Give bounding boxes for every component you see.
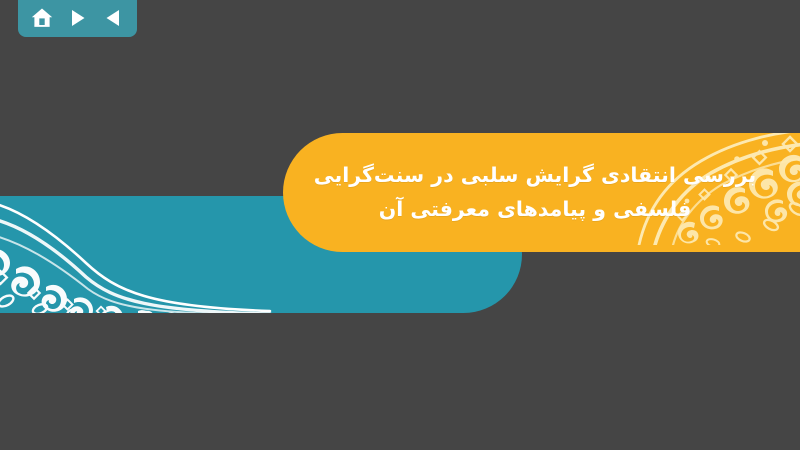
- title-panel: بررسی انتقادی گرایش سلبی در سنت‌گرایی فل…: [283, 133, 800, 252]
- triangle-left-icon: [105, 9, 121, 27]
- slide-navigation-bar: [18, 0, 137, 37]
- home-icon: [31, 8, 53, 28]
- previous-slide-button[interactable]: [98, 6, 128, 30]
- triangle-right-icon: [70, 9, 86, 27]
- slide-title-line-1: بررسی انتقادی گرایش سلبی در سنت‌گرایی: [313, 159, 757, 192]
- slide-title-line-2: فلسفی و پیامدهای معرفتی آن: [313, 193, 757, 226]
- presentation-slide: بررسی انتقادی گرایش سلبی در سنت‌گرایی فل…: [0, 0, 800, 450]
- arabesque-ornament-teal: [0, 196, 272, 313]
- slide-title: بررسی انتقادی گرایش سلبی در سنت‌گرایی فل…: [313, 159, 783, 225]
- next-slide-button[interactable]: [63, 6, 93, 30]
- home-button[interactable]: [27, 6, 57, 30]
